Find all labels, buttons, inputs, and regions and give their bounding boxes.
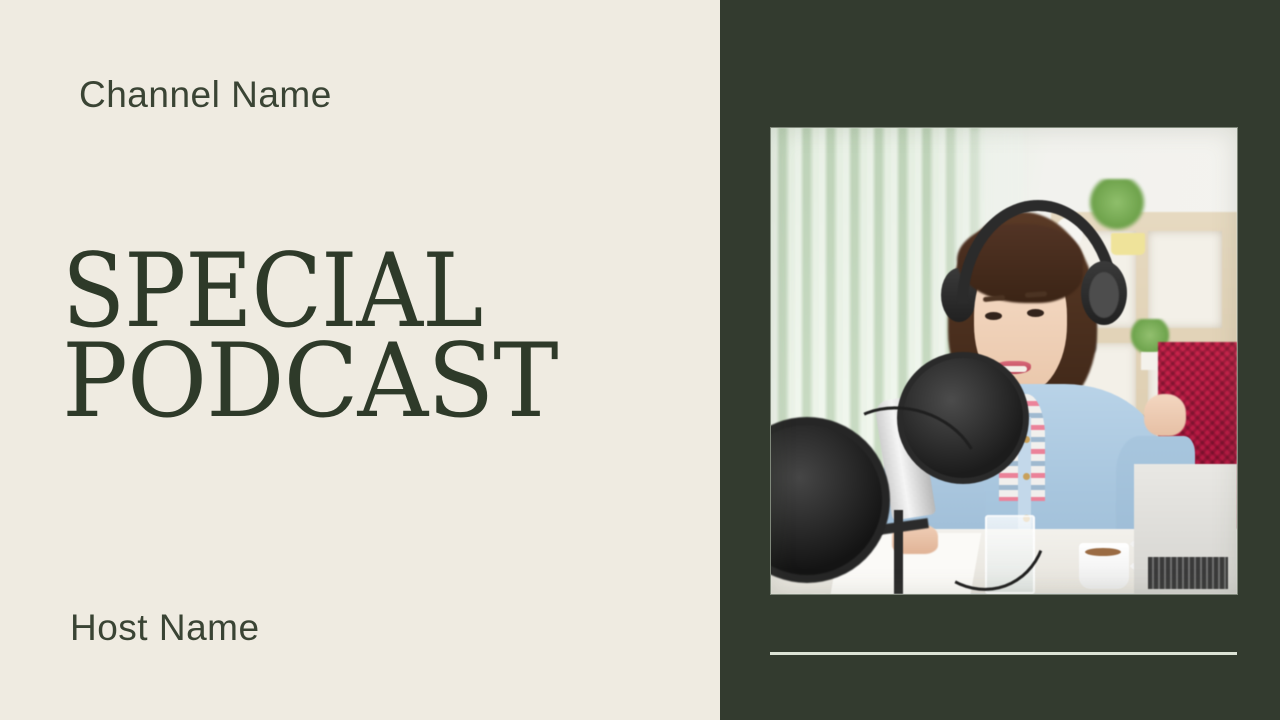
title-line-podcast: PODCAST: [62, 335, 613, 429]
podcast-host-photo: [771, 128, 1237, 594]
plant-pot: [1111, 233, 1145, 255]
left-panel: Channel Name SPECIAL PODCAST Host Name: [0, 0, 720, 720]
eye-right: [1027, 309, 1044, 317]
shelf-cell: [1148, 231, 1223, 328]
right-panel: [720, 0, 1280, 720]
photo-scene: [771, 128, 1237, 594]
host-name-text: Host Name: [70, 607, 260, 649]
laptop-keyboard: [1148, 557, 1227, 590]
decorative-rule: [770, 652, 1237, 655]
hand-right: [1144, 394, 1186, 436]
podcast-cover-slide: Channel Name SPECIAL PODCAST Host Name: [0, 0, 1280, 720]
potted-plant: [1088, 179, 1146, 231]
headphone-earcup-pad: [1089, 272, 1119, 318]
coffee-surface: [1085, 548, 1121, 556]
title-block: SPECIAL PODCAST: [62, 247, 602, 426]
channel-name-text: Channel Name: [79, 74, 332, 116]
